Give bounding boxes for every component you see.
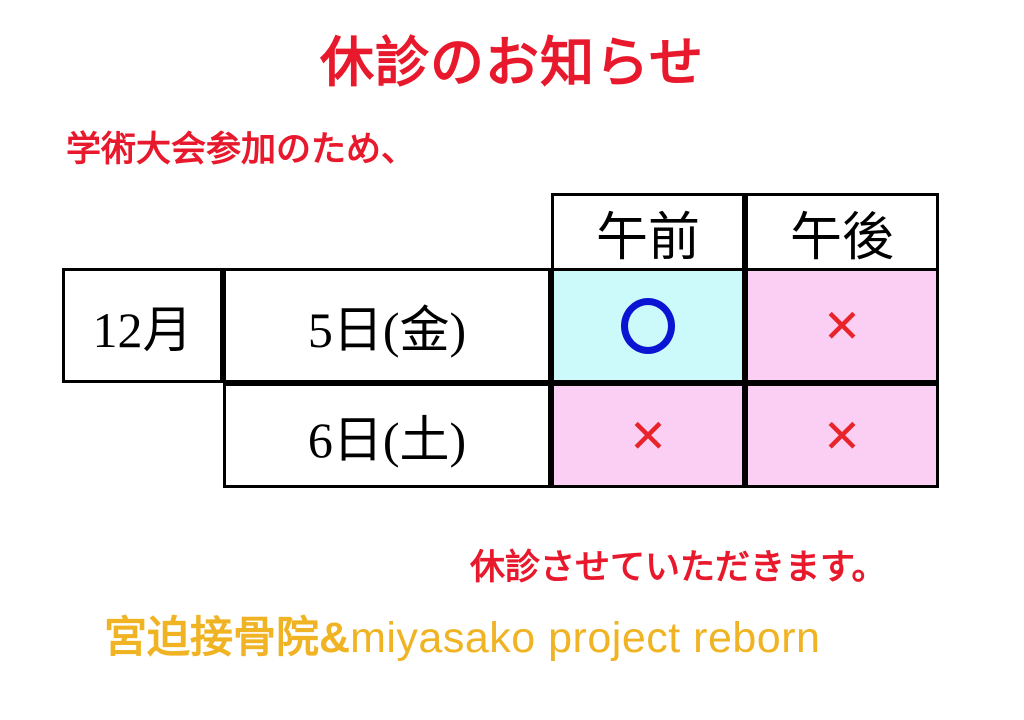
status-cell-row2-morning: ✕ bbox=[551, 383, 745, 488]
status-cell-row2-afternoon: ✕ bbox=[745, 383, 939, 488]
date-cell-row1: 5日(金) bbox=[223, 268, 551, 383]
status-cell-row1-afternoon: ✕ bbox=[745, 268, 939, 383]
notice-page: 休診のお知らせ 学術大会参加のため、 午前 午後 12月 5日(金) ✕ 6日(… bbox=[0, 0, 1024, 720]
closed-cross-icon: ✕ bbox=[629, 413, 668, 459]
closing-text: 休診させていただきます。 bbox=[470, 545, 887, 591]
ampersand: & bbox=[319, 614, 350, 662]
date-cell-row2: 6日(土) bbox=[223, 383, 551, 488]
status-cell-row1-morning bbox=[551, 268, 745, 383]
open-circle-icon bbox=[621, 298, 675, 354]
closed-cross-icon: ✕ bbox=[823, 413, 862, 459]
table-header-afternoon: 午後 bbox=[745, 193, 939, 271]
closed-cross-icon: ✕ bbox=[823, 303, 862, 349]
clinic-name-jp: 宮迫接骨院 bbox=[104, 614, 319, 662]
clinic-name-en: miyasako project reborn bbox=[350, 614, 820, 662]
clinic-brand: 宮迫接骨院&miyasako project reborn bbox=[104, 610, 820, 666]
month-cell: 12月 bbox=[62, 268, 223, 383]
table-header-morning: 午前 bbox=[551, 193, 745, 271]
